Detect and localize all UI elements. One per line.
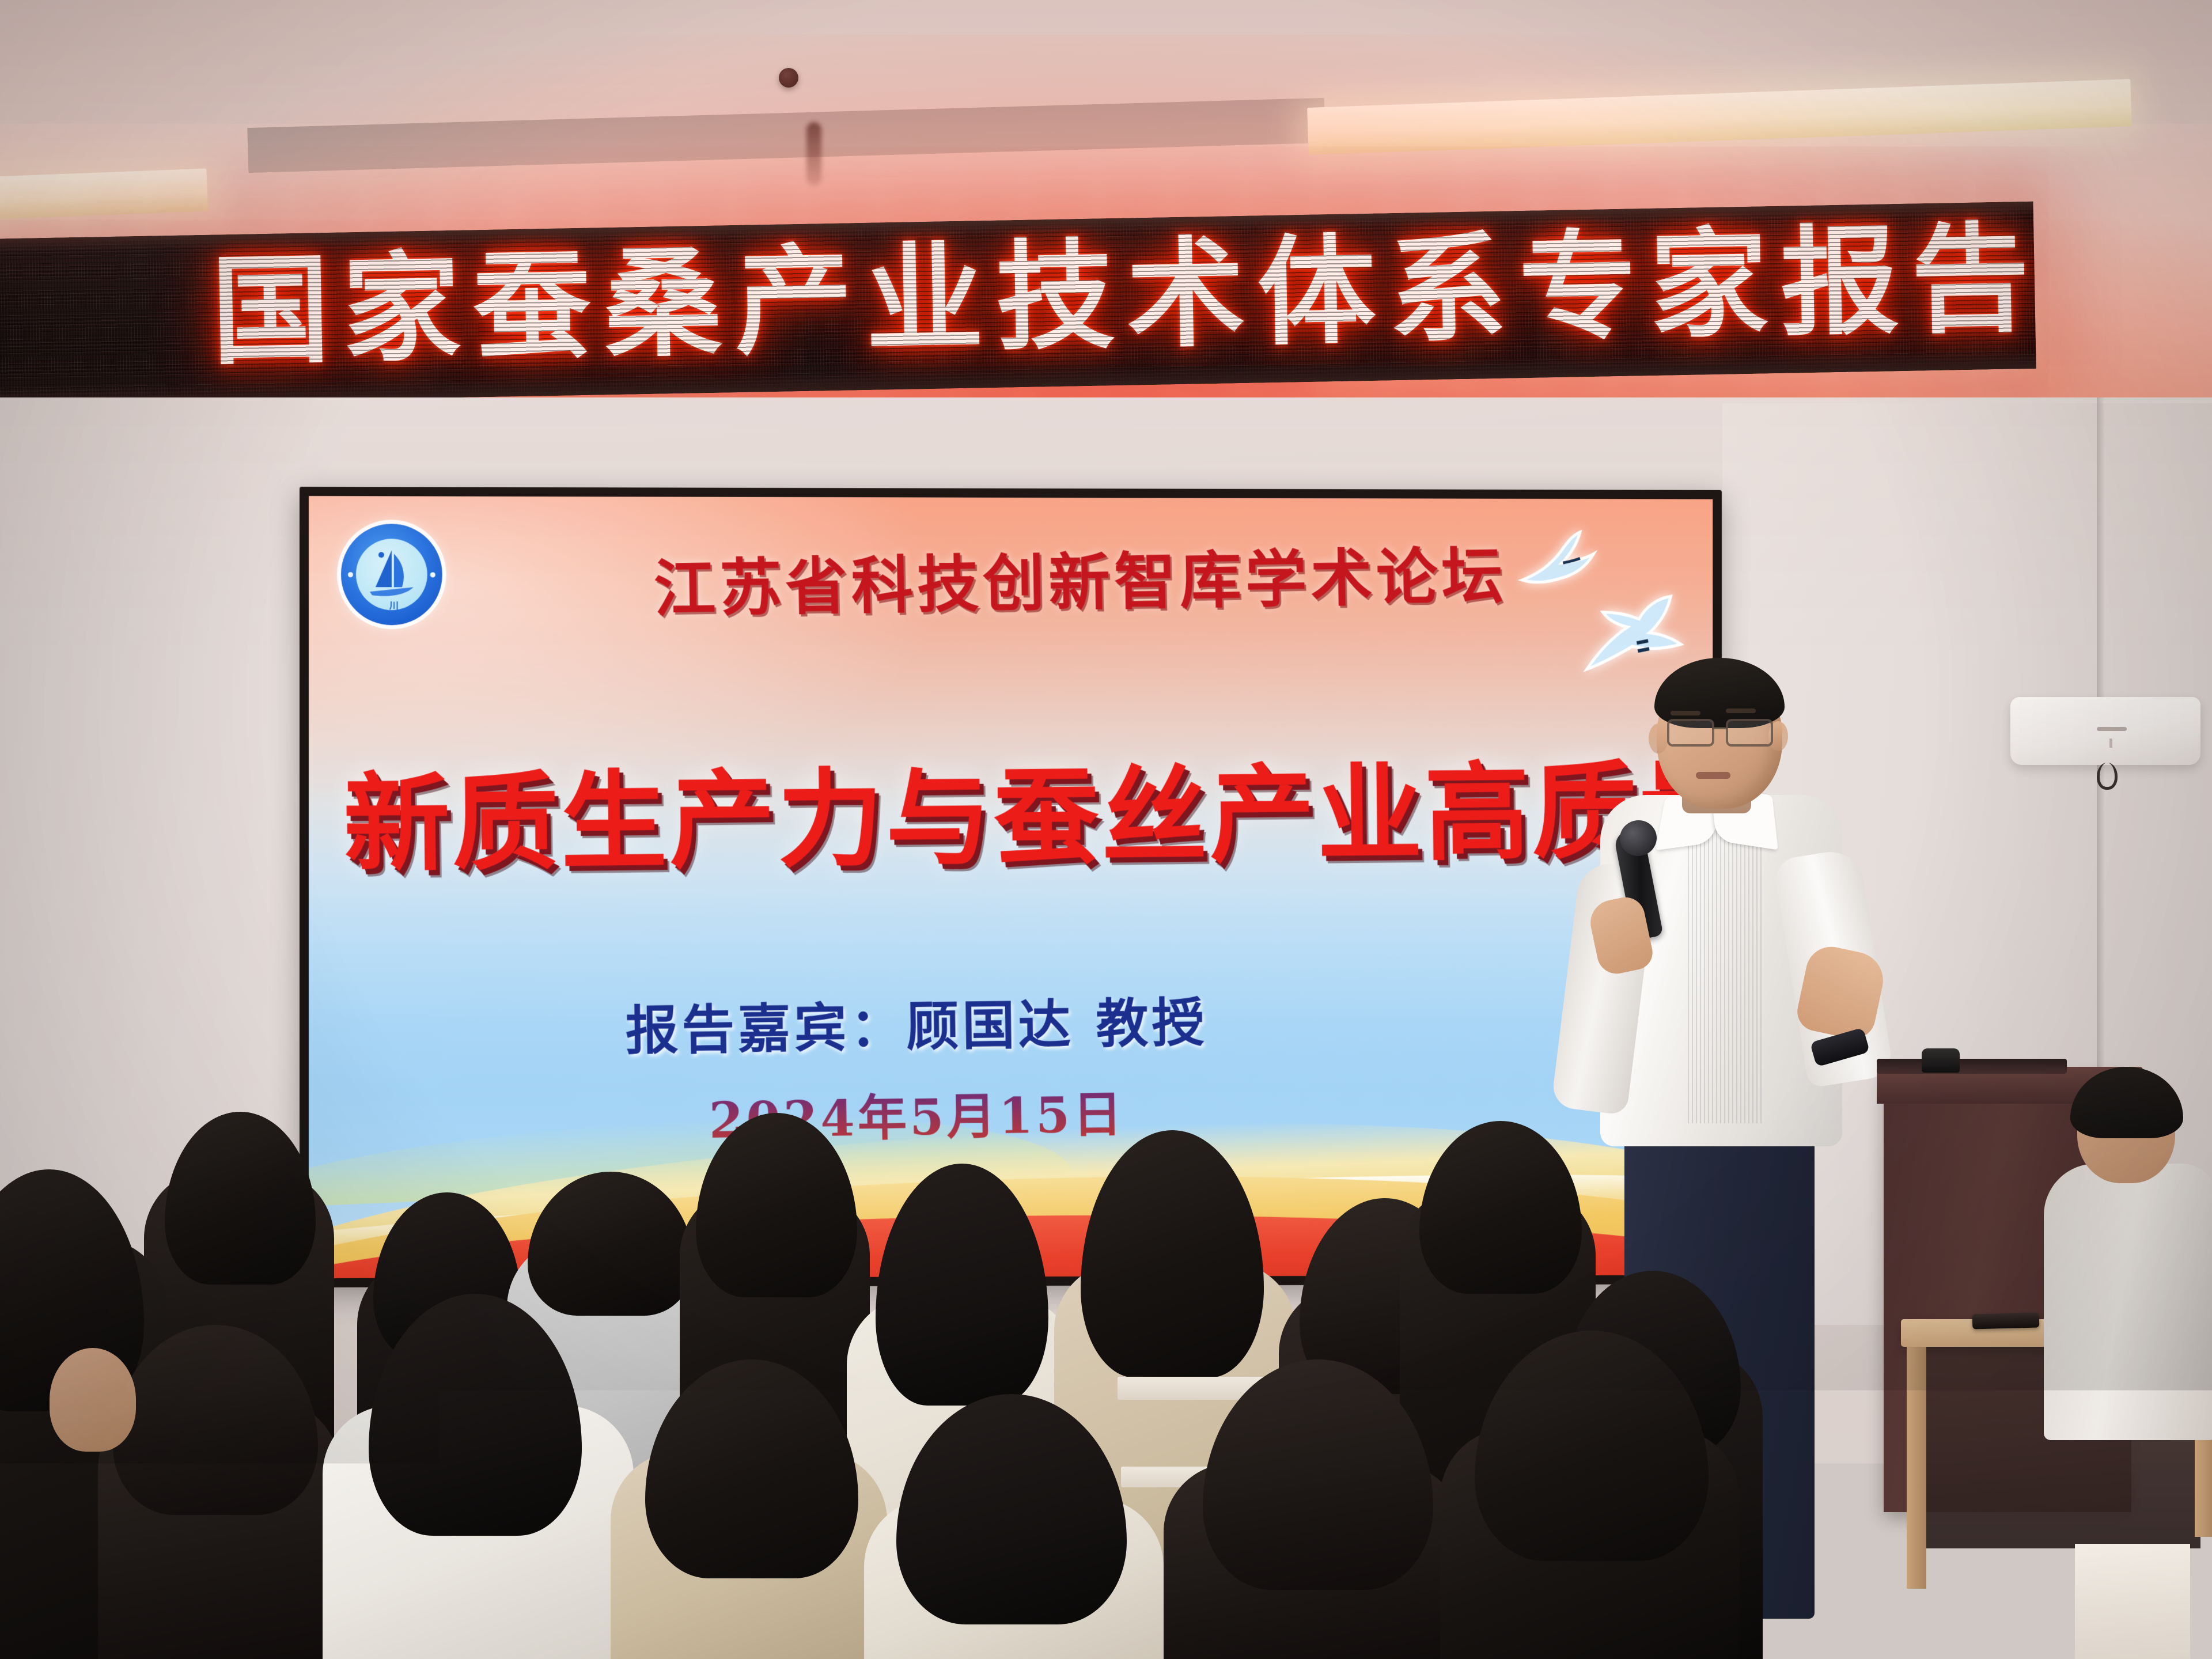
speaker-shirt-placket bbox=[1688, 818, 1763, 1123]
eyeglasses-bridge bbox=[1712, 727, 1727, 729]
ac-indicator-led bbox=[2109, 738, 2112, 748]
slide-guest-line: 报告嘉宾：顾国达 教授 bbox=[343, 976, 1487, 1069]
speaker-ear-left bbox=[1649, 724, 1668, 753]
conference-hall-photo: 国家蚕桑产业技术体系专家报告会 bbox=[0, 0, 2212, 1659]
eyeglasses-right-lens bbox=[1726, 719, 1773, 747]
lectern-front-lip bbox=[1877, 1059, 2067, 1074]
logo-marker-right bbox=[430, 572, 435, 577]
ceiling-fixture-stem bbox=[806, 122, 821, 185]
speaker-mouth bbox=[1696, 772, 1730, 779]
slide-header-text: 江苏省科技创新智库学术论坛 bbox=[653, 527, 1453, 629]
university-logo: 川 bbox=[341, 524, 442, 625]
smoke-detector bbox=[779, 68, 798, 88]
speaker-brow-right bbox=[1726, 709, 1756, 713]
slide-main-title: 新质生产力与蚕丝产业高质量发展 bbox=[343, 725, 1692, 892]
logo-caption: 川 bbox=[389, 597, 400, 611]
audience-front-2-face bbox=[50, 1348, 136, 1452]
light-strip-left bbox=[0, 168, 208, 219]
paper-sheet bbox=[2075, 1544, 2190, 1659]
eyeglasses-left-lens bbox=[1667, 719, 1714, 747]
mobile-phone bbox=[1972, 1312, 2040, 1329]
podium-microphone bbox=[1922, 1048, 1960, 1073]
ac-vent-slot bbox=[2097, 727, 2127, 731]
speaker-brow-left bbox=[1671, 711, 1700, 715]
logo-marker-left bbox=[348, 572, 353, 577]
wall-mounted-ac-unit bbox=[2010, 697, 2200, 765]
ac-pull-cord bbox=[2097, 763, 2118, 790]
seated-attendee-right-body bbox=[2044, 1164, 2212, 1440]
